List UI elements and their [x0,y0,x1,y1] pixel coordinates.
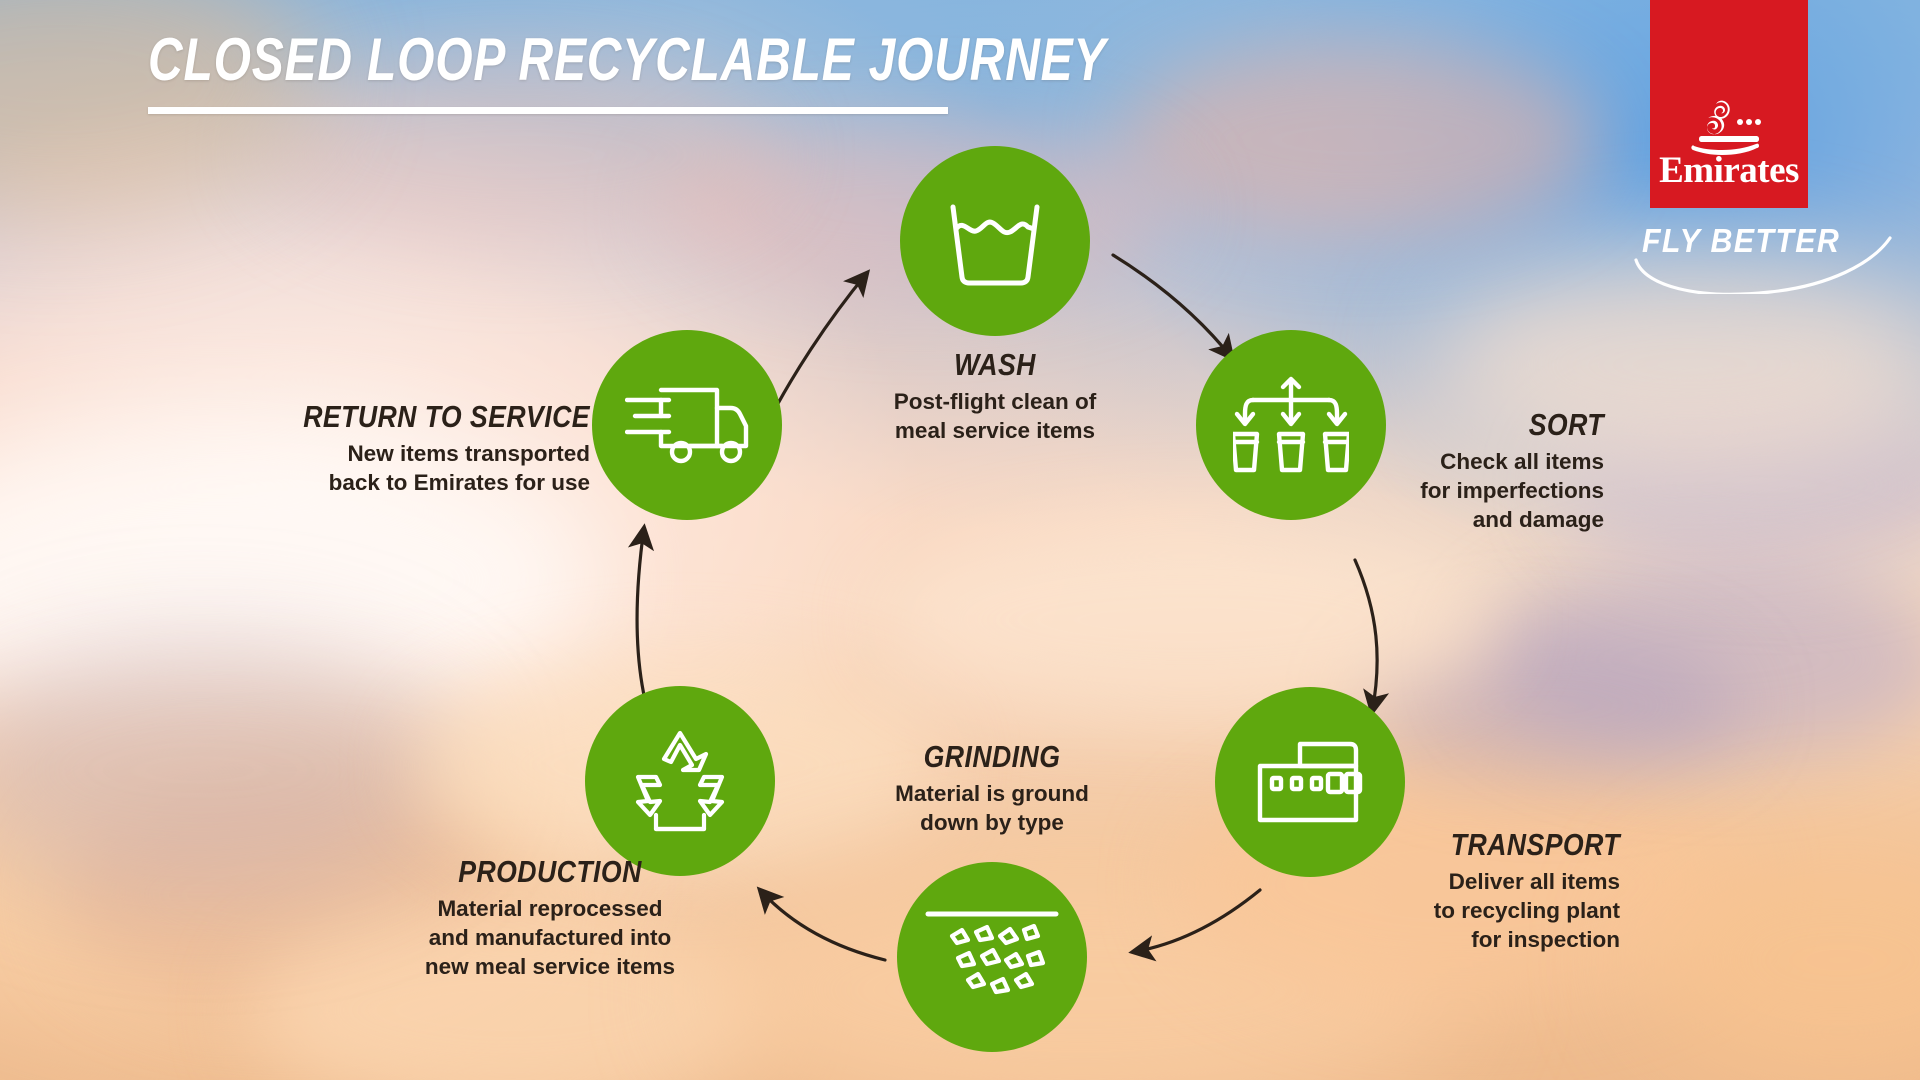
return-to-service-heading: RETURN TO SERVICE [246,400,590,434]
production-label-group: PRODUCTION Material reprocessed and manu… [330,855,770,981]
grinding-body: Material is ground down by type [792,780,1192,838]
recycle-triangle-icon [626,729,734,833]
grinding-label-group: GRINDING Material is ground down by type [792,740,1192,838]
sort-label-group: SORT Check all items for imperfections a… [1104,408,1604,534]
sort-body: Check all items for imperfections and da… [1104,448,1604,534]
wash-basin-icon [943,193,1047,289]
production-body: Material reprocessed and manufactured in… [330,895,770,981]
return-to-service-label-group: RETURN TO SERVICE New items transported … [190,400,590,498]
infographic-canvas: CLOSED LOOP RECYCLABLE JOURNEY Emirates … [0,0,1920,1080]
grinding-circle[interactable] [897,862,1087,1052]
transport-body: Deliver all items to recycling plant for… [1120,868,1620,954]
grinding-heading: GRINDING [820,740,1164,774]
wash-heading: WASH [823,348,1167,382]
factory-plant-icon [1254,736,1366,828]
production-circle[interactable] [585,686,775,876]
wash-circle[interactable] [900,146,1090,336]
delivery-truck-icon [625,382,749,468]
production-heading: PRODUCTION [361,855,739,889]
sort-heading: SORT [1174,408,1604,442]
transport-heading: TRANSPORT [1190,828,1620,862]
grinding-granules-icon [924,902,1060,1012]
closed-loop-cycle: WASH Post-flight clean of meal service i… [0,0,1920,1080]
return-to-service-body: New items transported back to Emirates f… [190,440,590,498]
return-to-service-circle[interactable] [592,330,782,520]
transport-label-group: TRANSPORT Deliver all items to recycling… [1120,828,1620,954]
